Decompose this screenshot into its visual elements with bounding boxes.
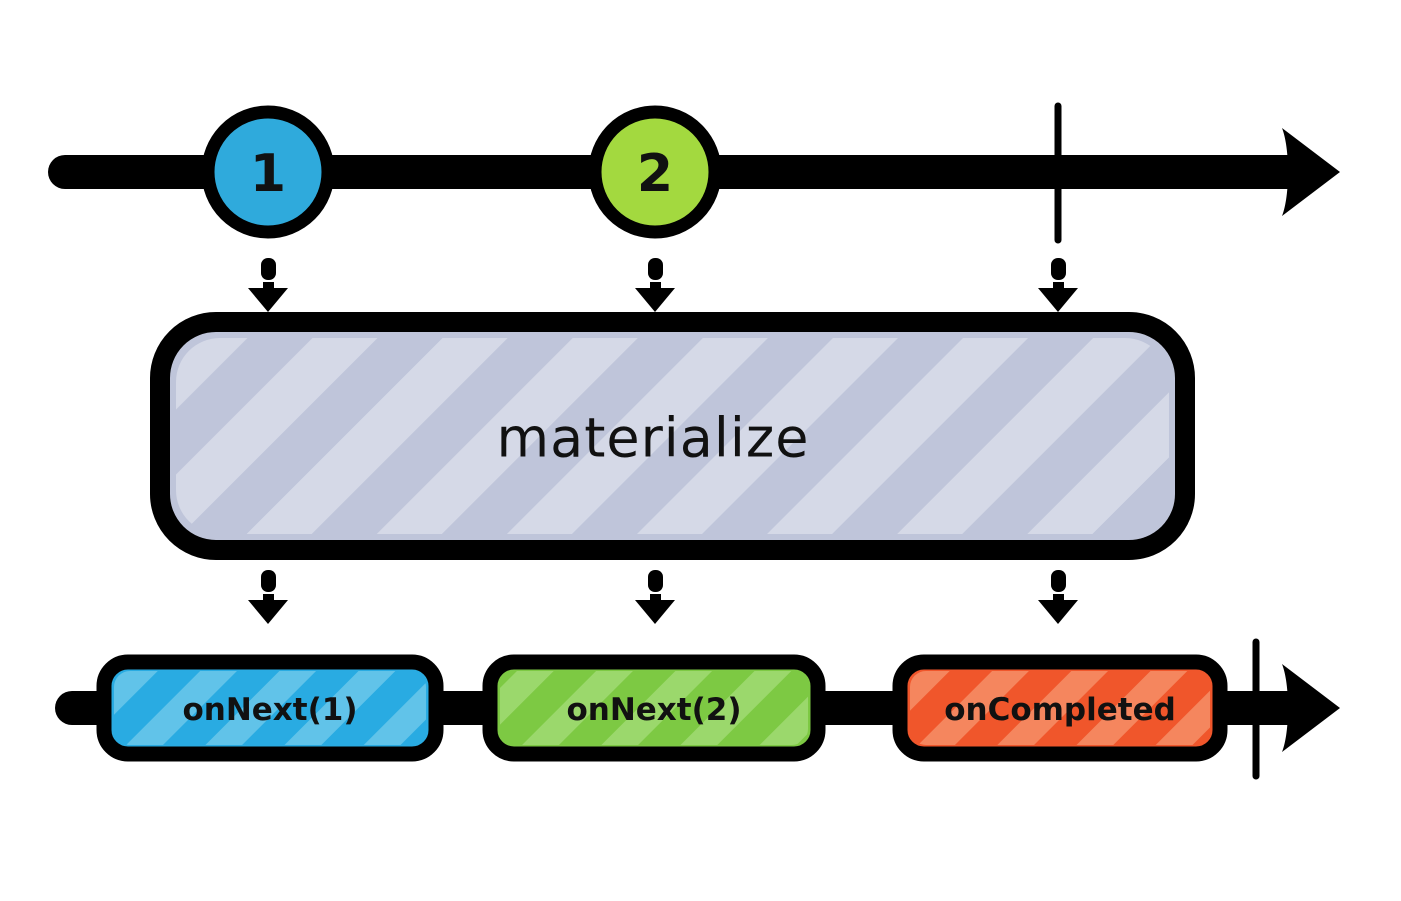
connector-out-3-down xyxy=(1038,570,1078,624)
marble-label-2: 2 xyxy=(637,144,673,204)
marble-diagram-root: 1 2 xyxy=(0,0,1401,901)
connector-marble-2-down xyxy=(635,258,675,312)
source-marble-1[interactable]: 1 xyxy=(208,112,328,232)
connectors-operator-to-result xyxy=(248,570,1078,624)
result-timeline: onNext(1) onNext(2) onCompleted xyxy=(72,642,1340,776)
notification-onnext-2[interactable]: onNext(2) xyxy=(490,662,818,754)
source-timeline-arrowhead xyxy=(1282,128,1340,216)
result-timeline-arrowhead xyxy=(1282,664,1340,752)
marble-diagram-canvas: 1 2 xyxy=(0,0,1401,901)
source-marble-2[interactable]: 2 xyxy=(595,112,715,232)
notification-label-1: onNext(1) xyxy=(182,692,357,728)
connector-out-2-down xyxy=(635,570,675,624)
notification-label-2: onNext(2) xyxy=(566,692,741,728)
notification-onnext-1[interactable]: onNext(1) xyxy=(104,662,436,754)
connectors-source-to-operator xyxy=(248,258,1078,312)
operator-box-label: materialize xyxy=(497,407,810,470)
notification-oncompleted[interactable]: onCompleted xyxy=(900,662,1220,754)
notification-label-3: onCompleted xyxy=(944,692,1176,728)
marble-label-1: 1 xyxy=(250,144,286,204)
source-timeline: 1 2 xyxy=(65,106,1340,240)
connector-complete-down xyxy=(1038,258,1078,312)
operator-box[interactable]: materialize xyxy=(160,322,1185,550)
connector-marble-1-down xyxy=(248,258,288,312)
connector-out-1-down xyxy=(248,570,288,624)
